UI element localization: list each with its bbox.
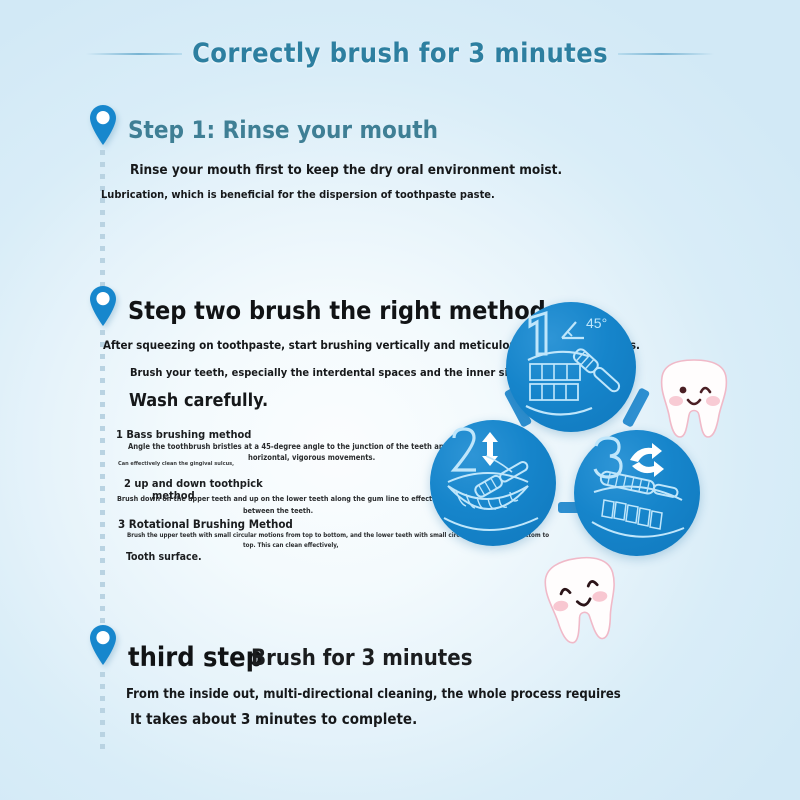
up-down-method-circle[interactable] [430, 420, 556, 546]
infographic-canvas: Correctly brush for 3 minutes Step 1: Ri… [0, 0, 800, 800]
step-2-line-3: Wash carefully. [129, 390, 268, 411]
title-rule-right [618, 53, 714, 55]
step-3-line-1: From the inside out, multi-directional c… [126, 687, 621, 702]
title-rule-left [86, 53, 182, 55]
page-title-bar: Correctly brush for 3 minutes [0, 38, 800, 69]
step-3-heading-bold: third step [128, 642, 263, 673]
step-1-line-2: Lubrication, which is beneficial for the… [101, 188, 495, 201]
step-3-line-2: It takes about 3 minutes to complete. [130, 710, 417, 728]
timeline-dotted-line-3 [100, 672, 105, 752]
map-pin-icon-step-2 [88, 285, 118, 327]
method-1-detail-3: Can effectively clean the gingival sulcu… [118, 461, 234, 467]
step-1-heading: Step 1: Rinse your mouth [128, 116, 438, 144]
tooth-mascot-bottom [540, 553, 624, 645]
map-pin-icon-step-1 [88, 104, 118, 146]
method-3-detail-3: Tooth surface. [126, 551, 202, 563]
timeline-dotted-line-2 [100, 330, 105, 635]
step-1-line-1: Rinse your mouth first to keep the dry o… [130, 162, 562, 178]
page-title: Correctly brush for 3 minutes [192, 38, 608, 69]
rotational-method-circle[interactable] [574, 430, 700, 556]
method-2-detail-2: between the teeth. [243, 506, 313, 515]
timeline-dotted-line-1 [100, 150, 105, 300]
method-3-title: 3 Rotational Brushing Method [118, 517, 293, 531]
step-3-heading-rest: Brush for 3 minutes [251, 646, 472, 671]
method-1-detail-2: horizontal, vigorous movements. [248, 453, 375, 462]
map-pin-icon-step-3 [88, 624, 118, 666]
tooth-mascot-top [655, 355, 733, 441]
bass-method-circle[interactable]: 45° [506, 302, 636, 432]
method-1-title: 1 Bass brushing method [116, 428, 251, 441]
method-3-detail-2: top. This can clean effectively, [243, 542, 339, 549]
svg-text:45°: 45° [586, 315, 607, 331]
